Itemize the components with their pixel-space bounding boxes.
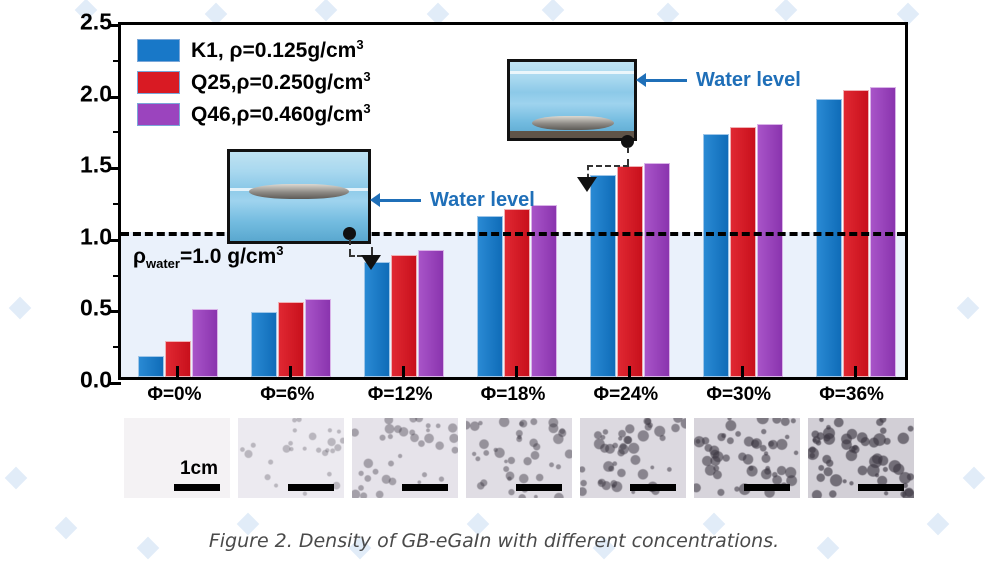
sample-blob [249,184,348,199]
scale-bar [402,484,448,491]
scale-bar [516,484,562,491]
x-axis-tick [402,366,405,377]
scale-bar-label: 1cm [180,458,218,480]
bar-k1-5[interactable] [703,134,729,377]
water-level-label: Water level [430,189,535,212]
water-level-callout-lower: Water level [379,189,535,212]
x-axis-tick [854,366,857,377]
sample-photo-5 [694,418,800,498]
bar-q25-4[interactable] [617,166,643,377]
bar-k1-1[interactable] [251,312,277,377]
y-axis-minor-tick [113,60,121,62]
x-axis-tick [289,366,292,377]
x-axis-tick [176,366,179,377]
bar-k1-0[interactable] [138,356,164,377]
bar-q46-1[interactable] [305,299,331,377]
sample-photo-6 [808,418,914,498]
water-level-label: Water level [696,69,801,92]
scale-bar [174,484,220,491]
y-axis-tick [109,96,121,99]
y-axis-tick-label: 0.5 [80,295,112,322]
callout-arrow-icon [645,79,687,82]
leader-vertical [627,147,629,165]
water-level-callout-upper: Water level [645,69,801,92]
scale-bar [858,484,904,491]
x-axis-tick [515,366,518,377]
sample-photo-strip: 1cm [124,418,914,498]
leader-vertical [349,239,351,255]
vessel-floor [510,131,634,138]
x-axis-tick [628,366,631,377]
y-axis-tick [109,239,121,242]
x-axis-label-4: Φ=24% [593,384,658,406]
sample-photo-3 [466,418,572,498]
y-axis-tick [109,310,121,313]
y-axis-tick [109,24,121,27]
rho-value: =1.0 g/cm [180,245,276,268]
leader-arrow-icon [577,177,597,192]
bar-q25-5[interactable] [730,127,756,377]
bar-k1-6[interactable] [816,99,842,377]
sample-photo-2 [352,418,458,498]
bar-k1-4[interactable] [590,175,616,377]
y-axis-minor-tick [113,203,121,205]
y-axis-minor-tick [113,346,121,348]
sample-photo-4 [580,418,686,498]
y-axis-minor-tick [113,131,121,133]
y-axis-minor-tick [113,275,121,277]
bar-q46-5[interactable] [757,124,783,377]
x-axis-label-2: Φ=12% [368,384,433,406]
scale-bar [744,484,790,491]
figure-density-chart: 0.00.51.01.52.02.5 Density (g/cm3) K1, ρ… [0,0,988,564]
bar-q25-2[interactable] [391,255,417,377]
bar-q46-2[interactable] [418,250,444,377]
x-axis-label-5: Φ=30% [706,384,771,406]
bar-k1-2[interactable] [364,262,390,377]
sunken-sample-photo [507,59,637,141]
sample-photo-1 [238,418,344,498]
x-axis-label-3: Φ=18% [481,384,546,406]
rho-exponent: 3 [276,243,283,258]
scale-bar [288,484,334,491]
x-axis-label-0: Φ=0% [147,384,201,406]
y-axis-tick-label: 2.5 [80,9,112,36]
y-axis-tick [109,167,121,170]
y-axis-tick-label: 1.0 [80,223,112,250]
rho-water-annotation: ρwater=1.0 g/cm3 [133,243,284,271]
y-axis-tick-labels: 0.00.51.01.52.02.5 [40,0,112,400]
bar-q46-3[interactable] [531,205,557,377]
x-axis-tick [741,366,744,377]
water-surface-line [510,71,634,74]
bar-q46-4[interactable] [644,163,670,377]
rho-symbol: ρ [133,245,146,268]
y-axis-tick-label: 2.0 [80,80,112,107]
x-axis-label-1: Φ=6% [260,384,314,406]
plot-area: K1, ρ=0.125g/cm3Q25,ρ=0.250g/cm3Q46,ρ=0.… [118,22,908,380]
sample-photo-0: 1cm [124,418,230,498]
scale-bar [630,484,676,491]
x-axis-label-6: Φ=36% [819,384,884,406]
x-axis-category-labels: Φ=0%Φ=6%Φ=12%Φ=18%Φ=24%Φ=30%Φ=36% [118,384,908,412]
bar-q46-0[interactable] [192,309,218,377]
y-axis-tick-label: 0.0 [80,367,112,394]
leader-horizontal [587,165,629,167]
rho-subscript: water [146,256,180,271]
figure-caption: Figure 2. Density of GB-eGaIn with diffe… [0,530,988,552]
leader-arrow-icon [361,255,381,270]
bar-k1-3[interactable] [477,216,503,377]
callout-arrow-icon [379,199,421,202]
sample-blob [532,116,614,130]
y-axis-tick-label: 1.5 [80,152,112,179]
